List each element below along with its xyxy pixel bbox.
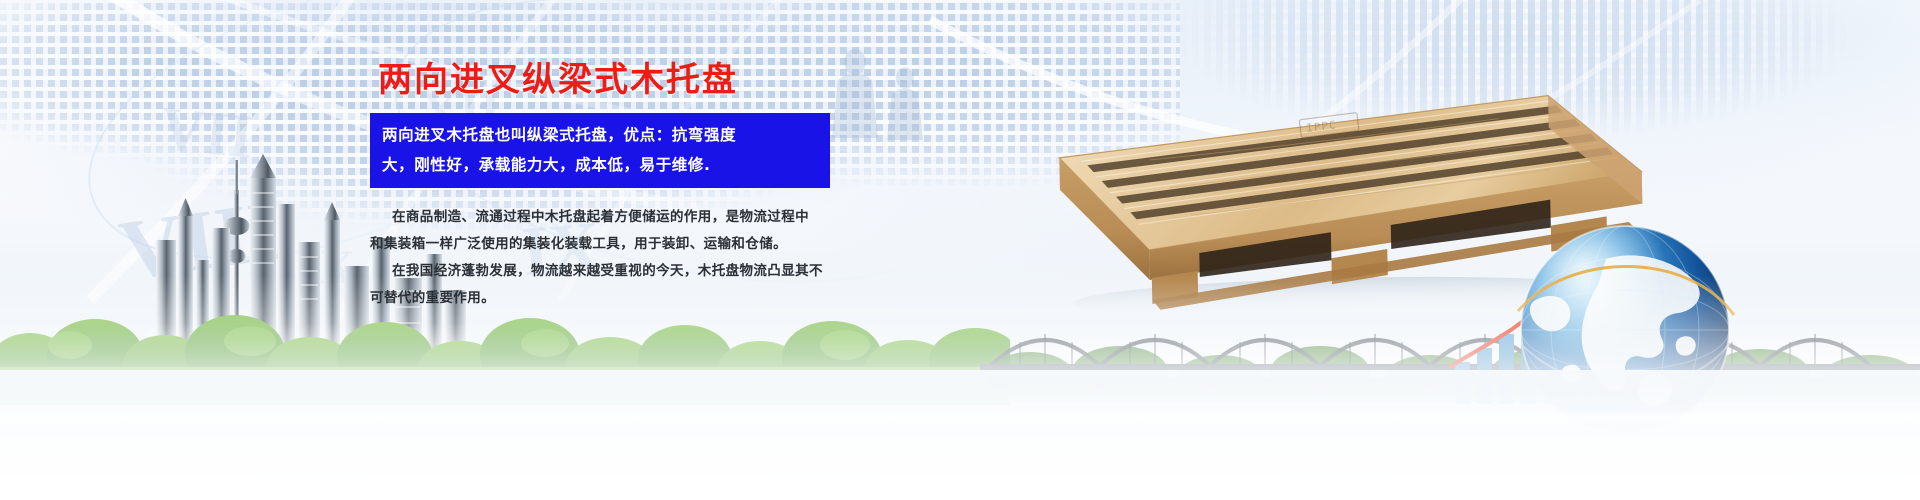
highlight-callout-box: 两向进叉木托盘也叫纵梁式托盘，优点：抗弯强度 大，刚性好，承载能力大，成本低，易…	[370, 113, 830, 188]
description-line-1: 在商品制造、流通过程中木托盘起着方便储运的作用，是物流过程中	[370, 204, 840, 231]
banner-text-block: 两向进叉纵梁式木托盘 两向进叉木托盘也叫纵梁式托盘，优点：抗弯强度 大，刚性好，…	[370, 52, 870, 312]
description-line-4: 可替代的重要作用。	[370, 285, 840, 312]
highlight-line-1: 两向进叉木托盘也叫纵梁式托盘，优点：抗弯强度	[382, 120, 820, 150]
water-highlight-streak	[0, 410, 1920, 426]
page-title: 两向进叉纵梁式木托盘	[378, 52, 870, 101]
highlight-line-2: 大，刚性好，承载能力大，成本低，易于维修.	[382, 150, 820, 180]
description-line-2: 和集装箱一样广泛使用的集装化装载工具，用于装卸、运输和仓储。	[370, 231, 840, 258]
water-reflection-band	[0, 370, 1920, 500]
description-paragraphs: 在商品制造、流通过程中木托盘起着方便储运的作用，是物流过程中 和集装箱一样广泛使…	[370, 204, 840, 312]
product-banner: VIII VII XII IX X IV	[0, 0, 1920, 500]
description-line-3: 在我国经济蓬勃发展，物流越来越受重视的今天，木托盘物流凸显其不	[370, 258, 840, 285]
